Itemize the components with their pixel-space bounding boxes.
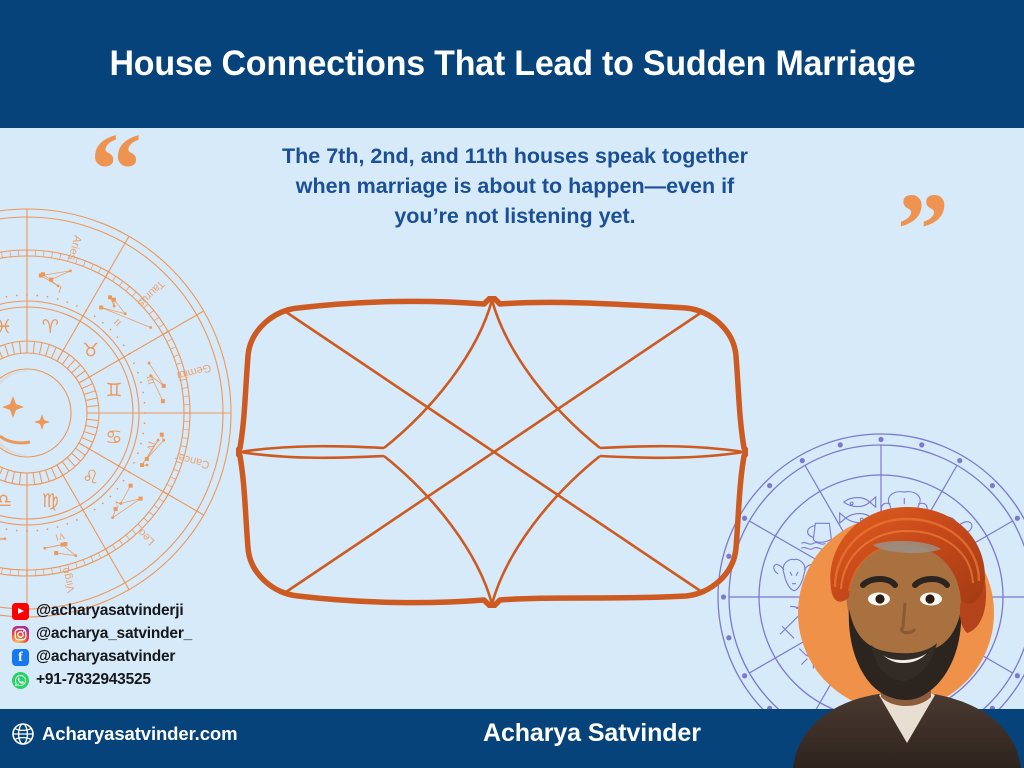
- house-numeral: VI: [54, 531, 66, 543]
- list-item[interactable]: +91-7832943525: [12, 669, 192, 691]
- quote-line: The 7th, 2nd, and 11th houses speak toge…: [235, 141, 795, 171]
- list-item[interactable]: @acharyasatvinderji: [12, 600, 192, 622]
- social-handle[interactable]: @acharya_satvinder_: [36, 625, 192, 643]
- instagram-icon[interactable]: [12, 626, 29, 643]
- zodiac-glyph: ♉: [82, 339, 99, 361]
- website-text[interactable]: Acharyasatvinder.com: [42, 723, 237, 745]
- quote-open-icon: “: [90, 118, 142, 222]
- zodiac-glyph: ♊: [105, 380, 122, 402]
- quote-text: The 7th, 2nd, and 11th houses speak toge…: [235, 141, 795, 231]
- zodiac-sign-label: Cancer: [173, 450, 211, 471]
- youtube-icon[interactable]: [12, 603, 29, 620]
- quote-line: when marriage is about to happen—even if: [235, 171, 795, 201]
- quote-line: you’re not listening yet.: [235, 201, 795, 231]
- acharya-satvinder-portrait: [775, 505, 1024, 768]
- house-numeral: II: [112, 317, 123, 328]
- zodiac-sign-label: Virgo: [60, 566, 78, 594]
- house-numeral: XII: [0, 283, 1, 296]
- list-item[interactable]: @acharya_satvinder_: [12, 623, 192, 645]
- north-indian-kundali-chart: [236, 296, 748, 608]
- zodiac-glyph: ♍: [42, 490, 59, 512]
- zodiac-glyph: ♋: [105, 426, 122, 448]
- facebook-icon[interactable]: f: [12, 649, 29, 666]
- zodiac-sign-label: Aries: [65, 234, 83, 262]
- zodiac-sign-label: Gemini: [176, 361, 213, 382]
- house-numeral: IV: [144, 440, 156, 452]
- zodiac-sign-label: Taurus: [134, 278, 166, 310]
- social-handle[interactable]: @acharyasatvinder: [36, 648, 175, 666]
- globe-icon: [12, 723, 34, 745]
- list-item[interactable]: f @acharyasatvinder: [12, 646, 192, 668]
- quote-close-icon: ”: [897, 178, 949, 282]
- zodiac-wheel-orange: ♈♉♊♋♌♍♎♏♐♑♒♓ IIIIIIIVVVIVIIVIIIIXXXIXII …: [0, 208, 232, 618]
- house-numeral: VII: [0, 530, 1, 543]
- zodiac-glyph: ♈: [42, 316, 59, 338]
- zodiac-glyph: ♓: [0, 316, 12, 338]
- header-bar: House Connections That Lead to Sudden Ma…: [0, 0, 1024, 128]
- zodiac-glyph: ♌: [82, 467, 99, 489]
- zodiac-sign-label: Leo: [136, 526, 157, 547]
- poster-canvas: ♈♉♊♋♌♍♎♏♐♑♒♓ IIIIIIIVVVIVIIVIIIIXXXIXII …: [0, 0, 1024, 768]
- zodiac-glyph: ♎: [0, 490, 12, 512]
- brand-name: Acharya Satvinder: [483, 719, 701, 748]
- website-link[interactable]: Acharyasatvinder.com: [12, 723, 237, 745]
- social-handle[interactable]: @acharyasatvinderji: [36, 602, 183, 620]
- social-handle[interactable]: +91-7832943525: [36, 671, 151, 689]
- kundali-diagonals: [286, 312, 702, 592]
- page-title: House Connections That Lead to Sudden Ma…: [109, 45, 915, 84]
- whatsapp-icon[interactable]: [12, 672, 29, 689]
- social-links-list: @acharyasatvinderji @acharya_satvinder_ …: [12, 600, 192, 692]
